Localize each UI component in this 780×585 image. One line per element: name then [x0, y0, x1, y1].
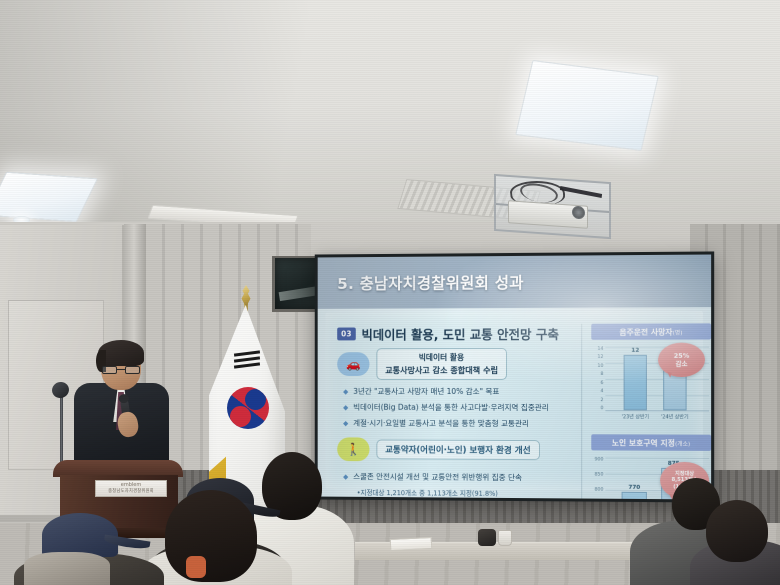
y-tick: 10: [597, 364, 603, 369]
desk-object: [478, 529, 496, 546]
pedestrian-icon: 🚶: [337, 437, 369, 461]
y-tick: 2: [600, 398, 603, 403]
sub-bullet-text: •지정대상 1,210개소 중 1,113개소 지정(91.8%): [357, 487, 522, 498]
bullet-list-2: ◆스쿨존 안전시설 개선 및 교통안전 위반행위 집중 단속 •지정대상 1,2…: [343, 471, 522, 499]
bar-value: 770: [628, 485, 640, 491]
bullet-text: 스쿨존 안전시설 개선 및 교통안전 위반행위 집중 단속: [353, 471, 522, 484]
annotation-line1: 25%: [674, 352, 690, 360]
bar-2023: 770: [622, 492, 647, 500]
attendee-gray-hair: [24, 552, 110, 585]
podium-plaque-text: 충청남도자치경찰위원회: [108, 488, 154, 494]
chart-1-title: 음주운전 사망자(명): [591, 323, 711, 339]
paper-document: [390, 537, 433, 551]
projection-screen: 5. 충남자치경찰위원회 성과 03 빅데이터 활용, 도민 교통 안전망 구축…: [315, 251, 714, 502]
y-tick: 14: [597, 347, 603, 352]
taeguk-symbol-icon: [227, 387, 269, 429]
section-heading-text: 빅데이터 활용, 도민 교통 안전망 구축: [362, 324, 559, 343]
callout-1-line1: 빅데이터 활용: [385, 352, 498, 364]
bullet-list-1: ◆3년간 "교통사고 사망자 매년 10% 감소" 목표 ◆빅데이터(Big D…: [343, 386, 549, 435]
bullet-dot-icon: ◆: [343, 386, 348, 398]
bullet-item: ◆계절·시기·요일별 교통사고 분석을 통한 맞춤형 교통관리: [343, 418, 549, 431]
y-tick: 900: [595, 457, 604, 462]
y-tick: 800: [595, 487, 604, 492]
chart-2-unit: (개소): [675, 441, 690, 447]
x-tick: '24년 상반기: [661, 413, 689, 420]
chart-1-unit: (명): [673, 330, 683, 336]
chart-1-title-text: 음주운전 사망자: [619, 327, 672, 336]
callout-box-2: 교통약자(어린이·노인) 보행자 환경 개선: [376, 439, 539, 460]
ceiling-shading: [0, 0, 780, 250]
microphone-stand: [60, 395, 63, 465]
slide-divider: [581, 324, 582, 500]
bullet-text: 빅데이터(Big Data) 분석을 통한 사고다발·우려지역 집중관리: [353, 402, 549, 414]
chart-1-y-axis: 14 12 10 8 6 4 2 0: [591, 347, 603, 411]
chart-2-y-axis: 900 850 800 750 700: [591, 457, 603, 499]
chart-2-title: 노인 보호구역 지정(개소): [591, 434, 711, 451]
chart-1-annotation-bubble: 25% 감소: [658, 343, 705, 377]
chart-dui-fatalities: 음주운전 사망자(명) 14 12 10 8 6 4 2 0: [591, 323, 711, 419]
y-tick: 0: [600, 406, 603, 411]
x-tick: '23년 상반기: [622, 413, 649, 420]
podium-plaque: emblem 충청남도자치경찰위원회: [95, 480, 167, 497]
ceiling-light-panel-right: [515, 60, 659, 151]
chart-2-title-text: 노인 보호구역 지정: [612, 438, 675, 447]
attendee-ponytail-head: [165, 490, 257, 582]
bullet-text: 3년간 "교통사고 사망자 매년 10% 감소" 목표: [353, 386, 499, 398]
callout-pedestrian: 🚶 교통약자(어린이·노인) 보행자 환경 개선: [337, 437, 539, 462]
conference-room-photo: 5. 충남자치경찰위원회 성과 03 빅데이터 활용, 도민 교통 안전망 구축…: [0, 0, 780, 585]
bullet-dot-icon: ◆: [343, 471, 348, 483]
paper-cup: [498, 530, 512, 546]
bullet-item: ◆스쿨존 안전시설 개선 및 교통안전 위반행위 집중 단속: [343, 471, 522, 485]
bar-value: 12: [631, 348, 639, 354]
car-accident-icon: 🚗: [337, 352, 369, 376]
y-tick: 4: [600, 389, 603, 394]
bar-2023: 12: [624, 355, 647, 410]
slide-section-heading: 03 빅데이터 활용, 도민 교통 안전망 구축: [337, 324, 559, 344]
glasses-icon: [102, 366, 140, 374]
projector-lens-icon: [572, 206, 585, 220]
bullet-dot-icon: ◆: [343, 418, 348, 430]
callout-big-data: 🚗 빅데이터 활용 교통사망사고 감소 종합대책 수립: [337, 348, 507, 380]
hair-tie-icon: [186, 556, 206, 578]
bullet-item: ◆빅데이터(Big Data) 분석을 통한 사고다발·우려지역 집중관리: [343, 402, 549, 415]
callout-1-line2: 교통사망사고 감소 종합대책 수립: [385, 364, 498, 376]
bullet-text: 계절·시기·요일별 교통사고 분석을 통한 맞춤형 교통관리: [353, 418, 529, 430]
callout-box-1: 빅데이터 활용 교통사망사고 감소 종합대책 수립: [376, 348, 507, 380]
section-number-badge: 03: [337, 327, 355, 340]
y-tick: 8: [600, 372, 603, 377]
y-tick: 850: [595, 472, 604, 477]
y-tick: 6: [600, 381, 603, 386]
slide-title: 5. 충남자치경찰위원회 성과: [337, 271, 524, 294]
attendee-head: [706, 500, 768, 562]
bullet-dot-icon: ◆: [343, 402, 348, 414]
annotation-line2: 감소: [676, 360, 688, 368]
y-tick: 12: [597, 355, 603, 360]
bullet-item: ◆3년간 "교통사고 사망자 매년 10% 감소" 목표: [343, 386, 549, 399]
callout-2-text: 교통약자(어린이·노인) 보행자 환경 개선: [385, 443, 530, 456]
projected-slide: 5. 충남자치경찰위원회 성과 03 빅데이터 활용, 도민 교통 안전망 구축…: [318, 255, 711, 500]
slide-body: 03 빅데이터 활용, 도민 교통 안전망 구축 🚗 빅데이터 활용 교통사망사…: [325, 311, 702, 491]
